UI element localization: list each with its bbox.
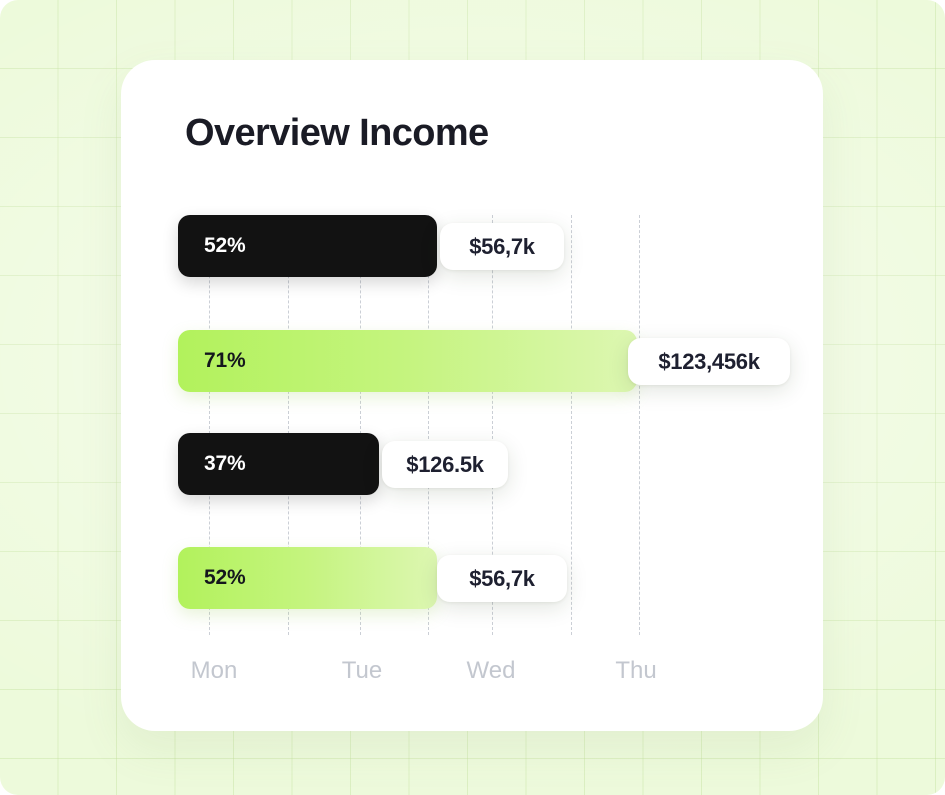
bar-row: 52% $56,7k <box>178 215 768 277</box>
x-tick-thu: Thu <box>615 657 656 685</box>
x-tick-tue: Tue <box>342 657 382 685</box>
bar-value-tooltip[interactable]: $56,7k <box>437 555 567 602</box>
bar-row: 71% $123,456k <box>178 330 768 392</box>
x-axis: Mon Tue Wed Thu <box>178 635 768 705</box>
bar-percent-label: 52% <box>204 234 245 258</box>
tooltip-amount: $126.5k <box>406 452 483 478</box>
bar-thu[interactable]: 52% <box>178 547 437 609</box>
screenshot-stage: Overview Income 52% $56,7k <box>0 0 945 795</box>
bar-mon[interactable]: 52% <box>178 215 437 277</box>
bar-row: 52% $56,7k <box>178 547 768 609</box>
x-tick-mon: Mon <box>191 657 238 685</box>
bar-value-tooltip[interactable]: $56,7k <box>440 223 564 270</box>
bar-tue[interactable]: 71% <box>178 330 637 392</box>
tooltip-amount: $123,456k <box>658 349 759 375</box>
bar-wed[interactable]: 37% <box>178 433 379 495</box>
bar-percent-label: 71% <box>204 349 245 373</box>
bar-value-tooltip[interactable]: $126.5k <box>382 441 508 488</box>
bar-percent-label: 37% <box>204 452 245 476</box>
tooltip-amount: $56,7k <box>469 234 535 260</box>
bar-percent-label: 52% <box>204 566 245 590</box>
tooltip-amount: $56,7k <box>469 566 535 592</box>
x-tick-wed: Wed <box>467 657 516 685</box>
overview-income-card: Overview Income 52% $56,7k <box>121 60 823 731</box>
bar-chart-plot-area: 52% $56,7k 71% $123,456k 37% <box>178 215 768 635</box>
bar-value-tooltip[interactable]: $123,456k <box>628 338 790 385</box>
page-title: Overview Income <box>185 112 489 155</box>
bar-row: 37% $126.5k <box>178 433 768 495</box>
